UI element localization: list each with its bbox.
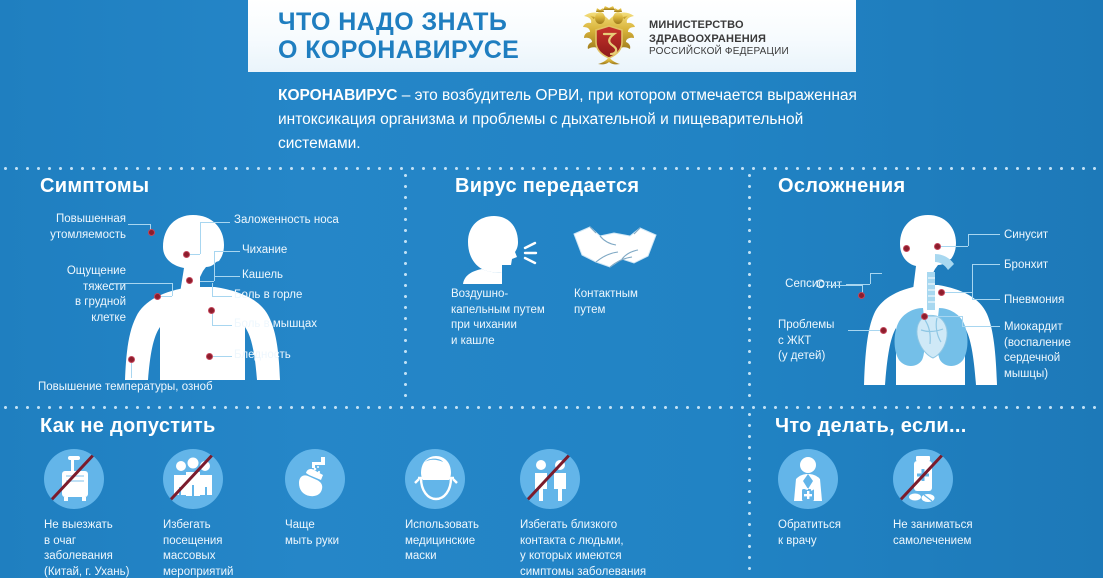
symptom-label-3: Чихание bbox=[242, 243, 287, 259]
marker-dot bbox=[154, 293, 161, 300]
intro-paragraph: КОРОНАВИРУС – это возбудитель ОРВИ, при … bbox=[278, 84, 878, 156]
divider-vertical-prevention bbox=[748, 409, 751, 578]
marker-dot bbox=[206, 353, 213, 360]
symptom-label-6: Боль в мышцах bbox=[234, 317, 317, 333]
prevention-item-1[interactable]: Избегать посещения массовых мероприятий bbox=[163, 449, 273, 578]
prevention-item-4[interactable]: Избегать близкого контакта с людьми, у к… bbox=[520, 449, 680, 578]
transmission-label-0: Воздушно- капельным путем при чихании и … bbox=[451, 287, 545, 349]
prevention-item-2[interactable]: Чаще мыть руки bbox=[285, 449, 390, 549]
what-to-do-item-0[interactable]: Обратиться к врачу bbox=[778, 449, 883, 549]
human-torso-with-lungs-and-heart-icon bbox=[855, 210, 1005, 390]
page-title: ЧТО НАДО ЗНАТЬ О КОРОНАВИРУСЕ bbox=[278, 8, 519, 65]
prevention-label-1: Избегать посещения массовых мероприятий bbox=[163, 518, 273, 578]
symptom-label-8: Повышение температуры, озноб bbox=[38, 380, 213, 396]
marker-dot bbox=[934, 243, 941, 250]
leader-line bbox=[972, 299, 1000, 300]
leader-line bbox=[212, 283, 213, 296]
marker-dot bbox=[858, 292, 865, 299]
leader-line bbox=[131, 362, 132, 378]
marker-dot bbox=[938, 289, 945, 296]
complication-label-6: Миокардит (воспаление сердечной мышцы) bbox=[1004, 320, 1071, 382]
hand-washing-icon bbox=[285, 449, 345, 509]
divider-vertical-transmission bbox=[748, 170, 751, 404]
leader-line bbox=[972, 264, 973, 299]
leader-line bbox=[172, 283, 173, 296]
marker-dot bbox=[208, 307, 215, 314]
ministry-line-2: ЗДРАВООХРАНЕНИЯ bbox=[649, 33, 789, 46]
marker-dot bbox=[903, 245, 910, 252]
section-title-what-to-do: Что делать, если... bbox=[775, 415, 967, 438]
divider-horizontal-top bbox=[0, 167, 1103, 170]
symptom-label-7: Бледность bbox=[234, 348, 291, 364]
intro-lead: КОРОНАВИРУС bbox=[278, 87, 397, 104]
marker-dot bbox=[880, 327, 887, 334]
leader-line bbox=[972, 264, 1000, 265]
page-title-line1: ЧТО НАДО ЗНАТЬ bbox=[278, 8, 519, 37]
leader-line bbox=[968, 234, 1000, 235]
ministry-branding: МИНИСТЕРСТВО ЗДРАВООХРАНЕНИЯ РОССИЙСКОЙ … bbox=[578, 6, 789, 71]
doctor-icon bbox=[778, 449, 838, 509]
prevention-item-3[interactable]: Использовать медицинские маски bbox=[405, 449, 510, 565]
what-to-do-label-0: Обратиться к врачу bbox=[778, 518, 883, 549]
leader-line bbox=[944, 292, 972, 293]
prevention-item-0[interactable]: Не выезжать в очаг заболевания (Китай, г… bbox=[44, 449, 149, 578]
marker-dot bbox=[148, 229, 155, 236]
medicine-bottle-icon bbox=[893, 449, 953, 509]
prevention-label-3: Использовать медицинские маски bbox=[405, 518, 510, 565]
leader-line bbox=[212, 356, 232, 357]
leader-line bbox=[940, 246, 968, 247]
section-title-prevention: Как не допустить bbox=[40, 415, 216, 438]
marker-dot bbox=[128, 356, 135, 363]
what-to-do-label-1: Не заниматься самолечением bbox=[893, 518, 1008, 549]
leader-line bbox=[212, 296, 232, 297]
complication-label-4: Бронхит bbox=[1004, 258, 1048, 274]
complication-label-1: Сепсис bbox=[768, 277, 824, 293]
ministry-name: МИНИСТЕРСТВО ЗДРАВООХРАНЕНИЯ РОССИЙСКОЙ … bbox=[649, 19, 789, 57]
section-title-transmission: Вирус передается bbox=[455, 175, 639, 198]
face-mask-icon bbox=[405, 449, 465, 509]
prevention-label-4: Избегать близкого контакта с людьми, у к… bbox=[520, 518, 680, 578]
marker-dot bbox=[186, 277, 193, 284]
leader-line bbox=[962, 326, 1000, 327]
leader-line bbox=[128, 224, 150, 225]
russian-double-headed-eagle-emblem-icon bbox=[578, 6, 640, 71]
sneezing-head-icon bbox=[455, 212, 545, 289]
prevention-label-0: Не выезжать в очаг заболевания (Китай, г… bbox=[44, 518, 149, 578]
symptom-label-2: Заложенность носа bbox=[234, 213, 339, 229]
infographic-poster: ЧТО НАДО ЗНАТЬ О КОРОНАВИРУСЕ bbox=[0, 0, 1103, 578]
leader-line bbox=[968, 234, 969, 246]
leader-line bbox=[200, 222, 230, 223]
marker-dot bbox=[183, 251, 190, 258]
symptom-label-4: Кашель bbox=[242, 268, 283, 284]
section-title-symptoms: Симптомы bbox=[40, 175, 149, 198]
crowd-people-icon bbox=[163, 449, 223, 509]
symptom-label-0: Повышенная утомляемость bbox=[18, 212, 126, 243]
leader-line bbox=[200, 222, 201, 254]
divider-vertical-symptoms bbox=[404, 170, 407, 404]
leader-line bbox=[870, 273, 882, 274]
leader-line bbox=[212, 325, 232, 326]
leader-line bbox=[110, 283, 172, 284]
prevention-label-2: Чаще мыть руки bbox=[285, 518, 390, 549]
complication-label-2: Проблемы с ЖКТ (у детей) bbox=[778, 318, 834, 365]
leader-line bbox=[214, 251, 240, 252]
two-people-contact-icon bbox=[520, 449, 580, 509]
symptom-label-1: Ощущение тяжести в грудной клетке bbox=[14, 264, 126, 326]
complication-label-5: Пневмония bbox=[1004, 293, 1064, 309]
ministry-line-3: РОССИЙСКОЙ ФЕДЕРАЦИИ bbox=[649, 46, 789, 58]
divider-horizontal-bottom bbox=[0, 406, 1103, 409]
suitcase-no-travel-icon bbox=[44, 449, 104, 509]
leader-line bbox=[926, 316, 962, 317]
leader-line bbox=[200, 281, 214, 282]
transmission-label-1: Контактным путем bbox=[574, 287, 638, 318]
ministry-line-1: МИНИСТЕРСТВО bbox=[649, 19, 789, 32]
complication-label-3: Синусит bbox=[1004, 228, 1048, 244]
leader-line bbox=[214, 276, 240, 277]
leader-line bbox=[962, 316, 963, 326]
marker-dot bbox=[921, 313, 928, 320]
page-title-line2: О КОРОНАВИРУСЕ bbox=[278, 36, 519, 65]
symptom-label-5: Боль в горле bbox=[234, 288, 302, 304]
leader-line bbox=[870, 273, 871, 284]
header-panel: ЧТО НАДО ЗНАТЬ О КОРОНАВИРУСЕ bbox=[248, 0, 856, 72]
handshake-icon bbox=[570, 222, 660, 285]
section-title-complications: Осложнения bbox=[778, 175, 906, 198]
leader-line bbox=[826, 285, 862, 286]
what-to-do-item-1[interactable]: Не заниматься самолечением bbox=[893, 449, 1008, 549]
